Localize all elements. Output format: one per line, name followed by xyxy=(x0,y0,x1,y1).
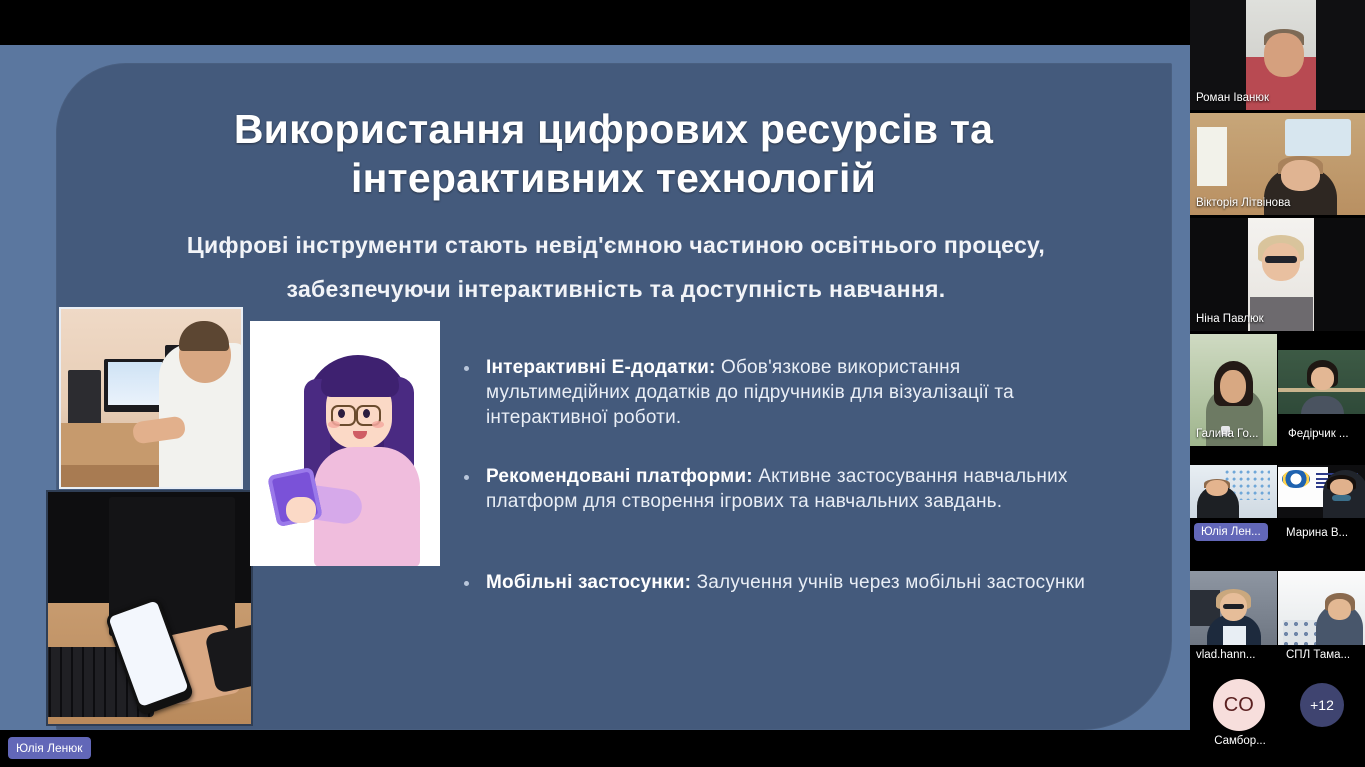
participant-filmstrip[interactable]: Роман Іванюк Вікторія Літвінова Ніна Пав… xyxy=(1190,0,1365,767)
participant-name: Марина В... xyxy=(1286,526,1348,540)
participant-name: СПЛ Тама... xyxy=(1286,648,1350,662)
participant-tile[interactable]: Роман Іванюк xyxy=(1190,0,1365,110)
participant-tile[interactable]: Вікторія Літвінова xyxy=(1190,113,1365,215)
bullet-lead: Рекомендовані платформи: xyxy=(486,466,753,487)
participant-video xyxy=(1278,465,1365,518)
bullet-text: Залучення учнів через мобільні застосунк… xyxy=(691,572,1085,593)
classroom-computers-photo xyxy=(59,307,243,489)
active-speaker-chip: Юлія Ленюк xyxy=(8,737,91,759)
bullet-item: Мобільні застосунки: Залучення учнів чер… xyxy=(456,570,1106,595)
bullet-dot-icon xyxy=(464,366,469,371)
participant-avatars-row: СО Самбор... +12 xyxy=(1190,671,1365,767)
participant-tile[interactable]: Юлія Лен... xyxy=(1190,465,1277,545)
participant-tile[interactable]: Марина В... xyxy=(1278,465,1365,545)
avatar[interactable]: СО xyxy=(1213,679,1265,731)
bullet-dot-icon xyxy=(464,581,469,586)
participant-name: Роман Іванюк xyxy=(1196,91,1269,105)
bullet-lead: Інтерактивні Е-додатки: xyxy=(486,357,715,378)
slide-subtitle-line-1: Цифрові інструменти стають невід'ємною ч… xyxy=(116,223,1116,267)
participant-name: vlad.hann... xyxy=(1196,648,1255,662)
participant-name: Федірчик ... xyxy=(1288,427,1349,441)
bullet-item: Інтерактивні Е-додатки: Обов'язкове вико… xyxy=(456,355,1106,430)
participant-name: Галина Го... xyxy=(1196,427,1259,441)
bullet-item: Рекомендовані платформи: Активне застосу… xyxy=(456,464,1106,514)
slide-subtitle: Цифрові інструменти стають невід'ємною ч… xyxy=(116,223,1116,311)
bullet-lead: Мобільні застосунки: xyxy=(486,572,691,593)
overflow-participants-badge[interactable]: +12 xyxy=(1300,683,1344,727)
shared-screen-stage[interactable]: Використання цифрових ресурсів та інтера… xyxy=(0,45,1190,730)
participant-video xyxy=(1190,571,1277,645)
participant-tile[interactable]: Федірчик ... xyxy=(1278,334,1365,446)
avatar-label: Самбор... xyxy=(1200,735,1280,747)
participant-video xyxy=(1278,350,1365,414)
participant-video xyxy=(1278,571,1365,645)
participant-tile[interactable]: vlad.hann... xyxy=(1190,567,1277,667)
overflow-count: +12 xyxy=(1310,697,1334,713)
participant-name: Ніна Павлюк xyxy=(1196,312,1264,326)
participant-name: Вікторія Літвінова xyxy=(1196,196,1290,210)
slide-bullet-list: Інтерактивні Е-додатки: Обов'язкове вико… xyxy=(456,355,1106,629)
participant-tile[interactable]: СПЛ Тама... xyxy=(1278,567,1365,667)
participant-tile[interactable]: Галина Го... xyxy=(1190,334,1277,446)
girl-with-tablet-illustration xyxy=(250,321,440,566)
desk-smartphone-photo xyxy=(46,490,253,726)
participant-video xyxy=(1190,465,1277,518)
participant-name: Юлія Лен... xyxy=(1194,523,1268,541)
participant-tile[interactable]: Ніна Павлюк xyxy=(1190,218,1365,331)
meeting-screen: Використання цифрових ресурсів та інтера… xyxy=(0,0,1365,767)
presentation-slide: Використання цифрових ресурсів та інтера… xyxy=(56,63,1172,730)
avatar-initials: СО xyxy=(1224,694,1255,717)
slide-subtitle-line-2: забезпечуючи інтерактивність та доступні… xyxy=(116,267,1116,311)
slide-title: Використання цифрових ресурсів та інтера… xyxy=(86,105,1141,203)
bullet-dot-icon xyxy=(464,475,469,480)
